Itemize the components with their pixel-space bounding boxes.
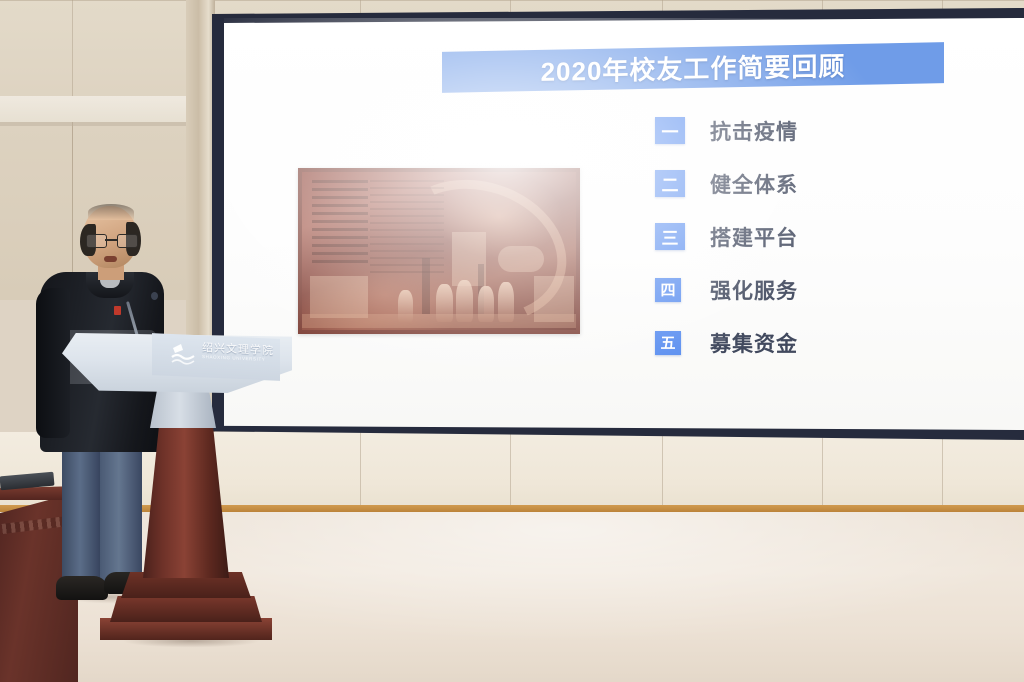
item-number-badge: 五 [655, 331, 681, 355]
list-item: 三 搭建平台 [655, 210, 915, 263]
speaker-leg-right [100, 440, 142, 592]
glasses-bridge [105, 239, 117, 241]
relief-structure [310, 276, 368, 318]
screenshot-root: 2020年校友工作简要回顾 [0, 0, 1024, 682]
microphone-head-icon [151, 292, 158, 300]
glasses-lens [117, 234, 138, 248]
wave-logo-icon [170, 341, 196, 367]
speaker-leg-left [62, 440, 102, 590]
relief-calligraphy-block [370, 180, 444, 276]
relief-ground [302, 314, 576, 328]
projection-screen: 2020年校友工作简要回顾 [224, 18, 1024, 430]
speaker-hair [88, 204, 134, 220]
item-label: 健全体系 [710, 169, 798, 199]
lapel-pin-icon [114, 306, 121, 315]
list-item: 五 募集资金 [655, 316, 915, 369]
relief-calligraphy-column [312, 180, 368, 266]
list-item: 一 抗击疫情 [655, 104, 915, 157]
slide-outline-list: 一 抗击疫情 二 健全体系 三 搭建平台 四 强化服务 五 募集资金 [655, 104, 915, 369]
item-number-badge: 二 [655, 170, 685, 197]
list-item: 四 强化服务 [655, 263, 915, 316]
glasses-lens [86, 234, 107, 248]
podium-base-mid [110, 596, 262, 622]
relief-structure [498, 246, 544, 272]
speaker-shoe-left [56, 576, 108, 600]
slide-image-copper-relief [298, 168, 580, 334]
speaker-arm-left [36, 288, 70, 438]
relief-pole [422, 258, 430, 314]
item-label: 募集资金 [710, 328, 798, 358]
speaker-mouth [104, 256, 117, 262]
item-number-badge: 四 [655, 278, 681, 302]
item-label: 搭建平台 [710, 222, 798, 252]
list-item: 二 健全体系 [655, 157, 915, 210]
item-number-badge: 三 [655, 223, 685, 250]
slide-title: 2020年校友工作简要回顾 [442, 42, 944, 93]
item-label: 强化服务 [710, 275, 798, 305]
relief-surface [302, 172, 576, 330]
glasses-icon [86, 234, 136, 246]
item-label: 抗击疫情 [710, 116, 798, 146]
item-number-badge: 一 [655, 117, 685, 144]
